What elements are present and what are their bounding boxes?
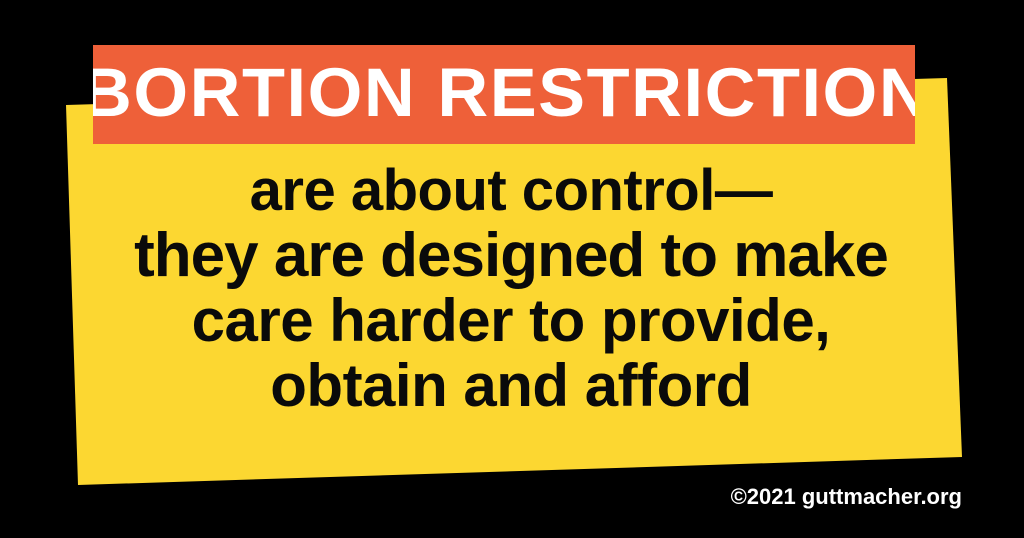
headline-line-3: care harder to provide, <box>78 288 944 353</box>
copyright-credit: ©2021 guttmacher.org <box>731 484 962 510</box>
page-title: ABORTION RESTRICTIONS <box>93 58 915 131</box>
headline-line-2: they are designed to make <box>78 223 944 288</box>
header-band: ABORTION RESTRICTIONS <box>93 45 915 144</box>
headline-line-1: are about control— <box>78 158 944 223</box>
social-media-graphic: ABORTION RESTRICTIONS are about control—… <box>0 0 1024 538</box>
headline-line-4: obtain and afford <box>78 353 944 418</box>
headline-text: are about control— they are designed to … <box>78 158 944 418</box>
